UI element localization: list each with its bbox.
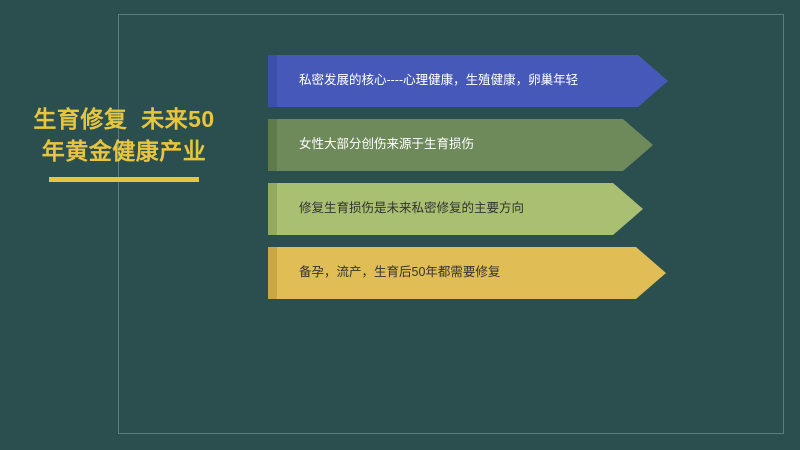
arrow-cap-1 (268, 55, 277, 107)
arrow-label-3: 修复生育损伤是未来私密修复的主要方向 (277, 200, 576, 218)
arrow-label-2: 女性大部分创伤来源于生育损伤 (277, 136, 526, 154)
arrow-item-3[interactable]: 修复生育损伤是未来私密修复的主要方向 (268, 183, 643, 235)
page-title: 生育修复 未来50年黄金健康产业 (24, 104, 224, 167)
arrow-label-4: 备孕，流产，生育后50年都需要修复 (277, 264, 552, 282)
arrow-cap-3 (268, 183, 277, 235)
title-underline (49, 177, 199, 182)
title-block: 生育修复 未来50年黄金健康产业 (24, 104, 224, 182)
arrow-item-2[interactable]: 女性大部分创伤来源于生育损伤 (268, 119, 653, 171)
arrow-body-2: 女性大部分创伤来源于生育损伤 (277, 119, 653, 171)
arrow-body-1: 私密发展的核心----心理健康，生殖健康，卵巢年轻 (277, 55, 668, 107)
arrow-item-1[interactable]: 私密发展的核心----心理健康，生殖健康，卵巢年轻 (268, 55, 668, 107)
arrow-label-1: 私密发展的核心----心理健康，生殖健康，卵巢年轻 (277, 72, 630, 90)
arrow-cap-4 (268, 247, 277, 299)
arrow-cap-2 (268, 119, 277, 171)
arrow-list: 私密发展的核心----心理健康，生殖健康，卵巢年轻 女性大部分创伤来源于生育损伤… (268, 55, 688, 305)
slide-canvas: 生育修复 未来50年黄金健康产业 私密发展的核心----心理健康，生殖健康，卵巢… (0, 0, 800, 450)
arrow-body-4: 备孕，流产，生育后50年都需要修复 (277, 247, 666, 299)
arrow-item-4[interactable]: 备孕，流产，生育后50年都需要修复 (268, 247, 666, 299)
arrow-body-3: 修复生育损伤是未来私密修复的主要方向 (277, 183, 643, 235)
